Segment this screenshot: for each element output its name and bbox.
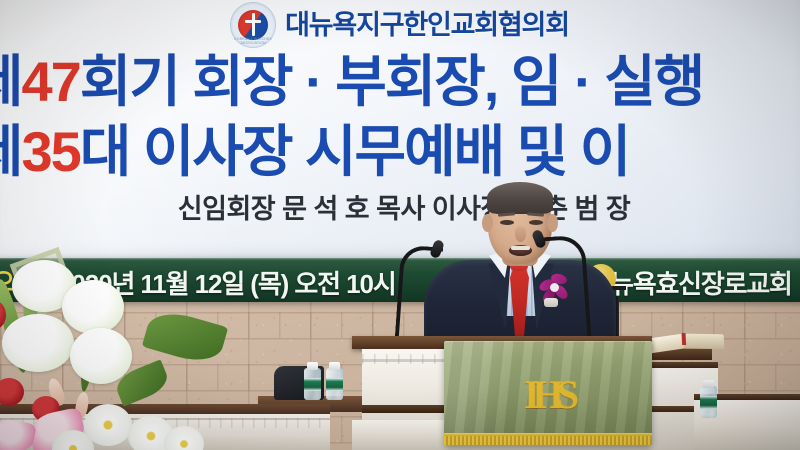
eye-right [529, 220, 543, 225]
headline1-prefix: 제 [0, 50, 22, 113]
white-gladiolus-bloom [2, 314, 74, 372]
white-gladiolus-bloom [62, 280, 124, 334]
headline2-suffix: 대 이사장 시무예배 및 이 [80, 120, 629, 183]
emblem-ring-text: KOREAN CHURCHES ASSOCIATION [231, 37, 275, 45]
water-bottle-1 [304, 362, 321, 400]
philodendron-leaf [142, 306, 229, 368]
headline1-number: 47 [22, 50, 80, 113]
bible-bookmark-ribbon [682, 333, 687, 345]
water-bottle-2 [326, 362, 343, 400]
bottle-label [304, 378, 321, 391]
pink-lily [0, 416, 37, 450]
floral-arrangement [0, 258, 220, 450]
cross-icon-horizontal [245, 20, 261, 23]
ihs-christogram-icon: IHS [444, 375, 652, 415]
nose [515, 226, 526, 242]
event-venue: 뉴욕효신장로교회 [610, 264, 792, 301]
hair [487, 182, 553, 214]
organization-header: KOREAN CHURCHES ASSOCIATION 대뉴욕지구한인교회협의회 [0, 0, 800, 51]
water-bottle-right [700, 380, 717, 418]
bottle-label [700, 396, 717, 409]
event-banner-white: KOREAN CHURCHES ASSOCIATION 대뉴욕지구한인교회협의회… [0, 0, 800, 260]
headline-line-2: 제35대 이사장 시무예배 및 이 [0, 124, 796, 180]
organization-name: 대뉴욕지구한인교회협의회 [285, 12, 569, 39]
bottle-cap [703, 380, 714, 388]
taegeuk-cross-emblem-icon: KOREAN CHURCHES ASSOCIATION [231, 3, 275, 47]
headline-line-3-names: 신임회장 문 석 호 목사 이사장 이 춘 범 장 [0, 196, 796, 223]
bottle-label [326, 378, 343, 391]
photograph: KOREAN CHURCHES ASSOCIATION 대뉴욕지구한인교회협의회… [0, 0, 800, 450]
white-gladiolus-bloom [70, 328, 132, 384]
cloth-gold-fringe [444, 436, 652, 445]
microphone-gooseneck-left [395, 245, 443, 340]
eye-left [500, 220, 514, 225]
lapel-left [484, 263, 511, 330]
headline2-number: 35 [22, 120, 80, 183]
pulpit-paraments-cloth: IHS [444, 341, 652, 445]
mouth [509, 245, 532, 256]
ear-right [547, 214, 558, 232]
bible-page-right [684, 334, 725, 350]
microphone-gooseneck-right [536, 234, 591, 341]
cross-icon-vertical [252, 13, 255, 36]
red-carnation [0, 378, 24, 406]
headline-line-1: 제47회기 회장 · 부회장, 임 · 실행 [0, 54, 796, 110]
bottle-cap [329, 362, 340, 370]
white-chrysanthemum [164, 426, 204, 450]
ear-left [482, 214, 493, 232]
bottle-cap [307, 362, 318, 370]
headline2-prefix: 제 [0, 120, 22, 183]
headline1-suffix: 회기 회장 · 부회장, 임 · 실행 [80, 50, 703, 113]
